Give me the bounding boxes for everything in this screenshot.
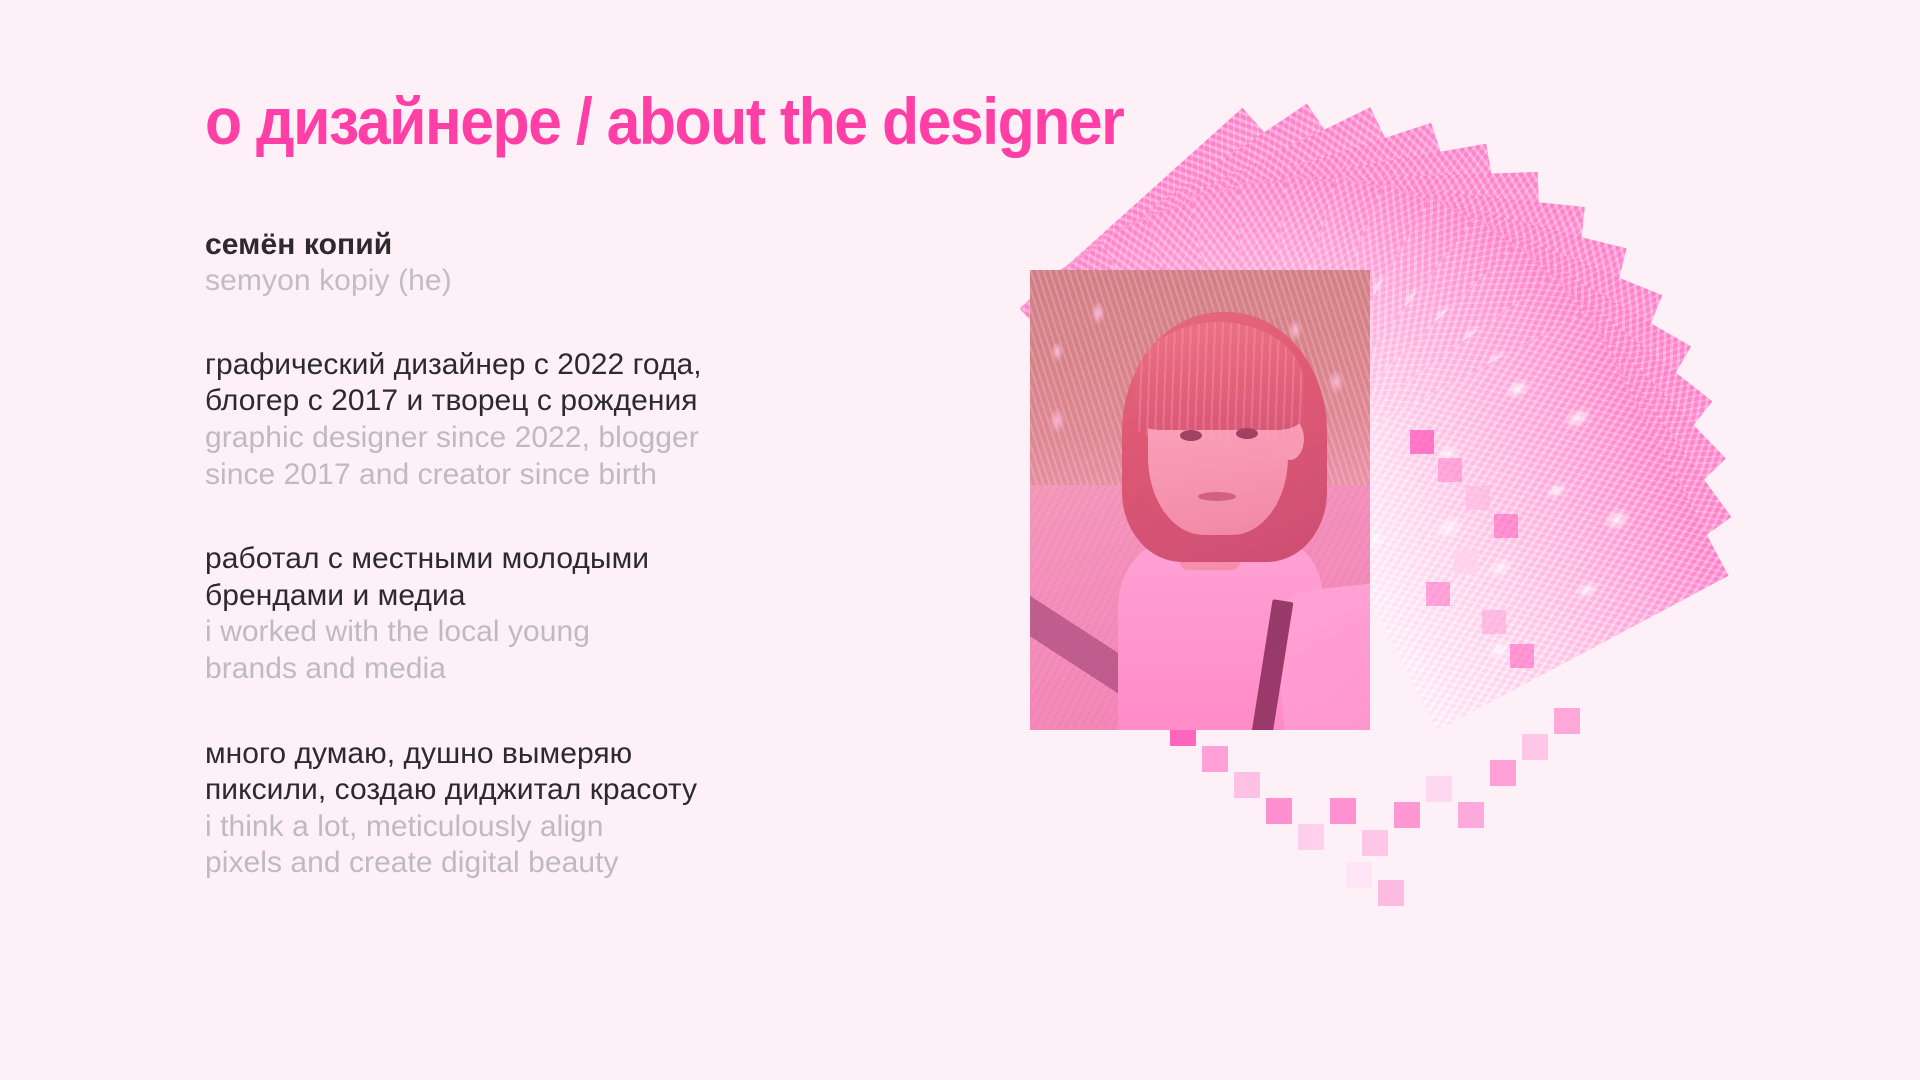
photo-collage [1000,120,1920,1080]
bio-ru-line: пиксили, создаю диджитал красоту [205,772,965,809]
bio-block-2: работал с местными молодыми брендами и м… [205,541,965,687]
bio-en-line: since 2017 and creator since birth [205,457,965,494]
bio-ru-line: работал с местными молодыми [205,541,965,578]
bio-en-line: i worked with the local young [205,614,965,651]
bio-block-1: графический дизайнер с 2022 года, блогер… [205,347,965,493]
bio-text-column: семён копий semyon kopiy (he) графически… [205,228,965,882]
designer-name-ru: семён копий [205,228,965,263]
bio-en-line: brands and media [205,651,965,688]
bio-ru-line: блогер с 2017 и творец с рождения [205,383,965,420]
bio-en-line: pixels and create digital beauty [205,845,965,882]
bio-ru-line: графический дизайнер с 2022 года, [205,347,965,384]
designer-portrait-photo [1030,270,1370,730]
bio-block-3: много думаю, душно вымеряю пиксили, созд… [205,736,965,882]
bio-ru-line: брендами и медиа [205,578,965,615]
slide-root: о дизайнере / about the designer семён к… [0,0,1920,1080]
page-title: о дизайнере / about the designer [205,88,1123,154]
designer-name-en: semyon kopiy (he) [205,263,965,299]
bio-en-line: graphic designer since 2022, blogger [205,420,965,457]
bio-ru-line: много думаю, душно вымеряю [205,736,965,773]
glitch-pixels-right [1400,400,1600,760]
bio-en-line: i think a lot, meticulously align [205,809,965,846]
photo-pink-glow [1030,270,1370,730]
